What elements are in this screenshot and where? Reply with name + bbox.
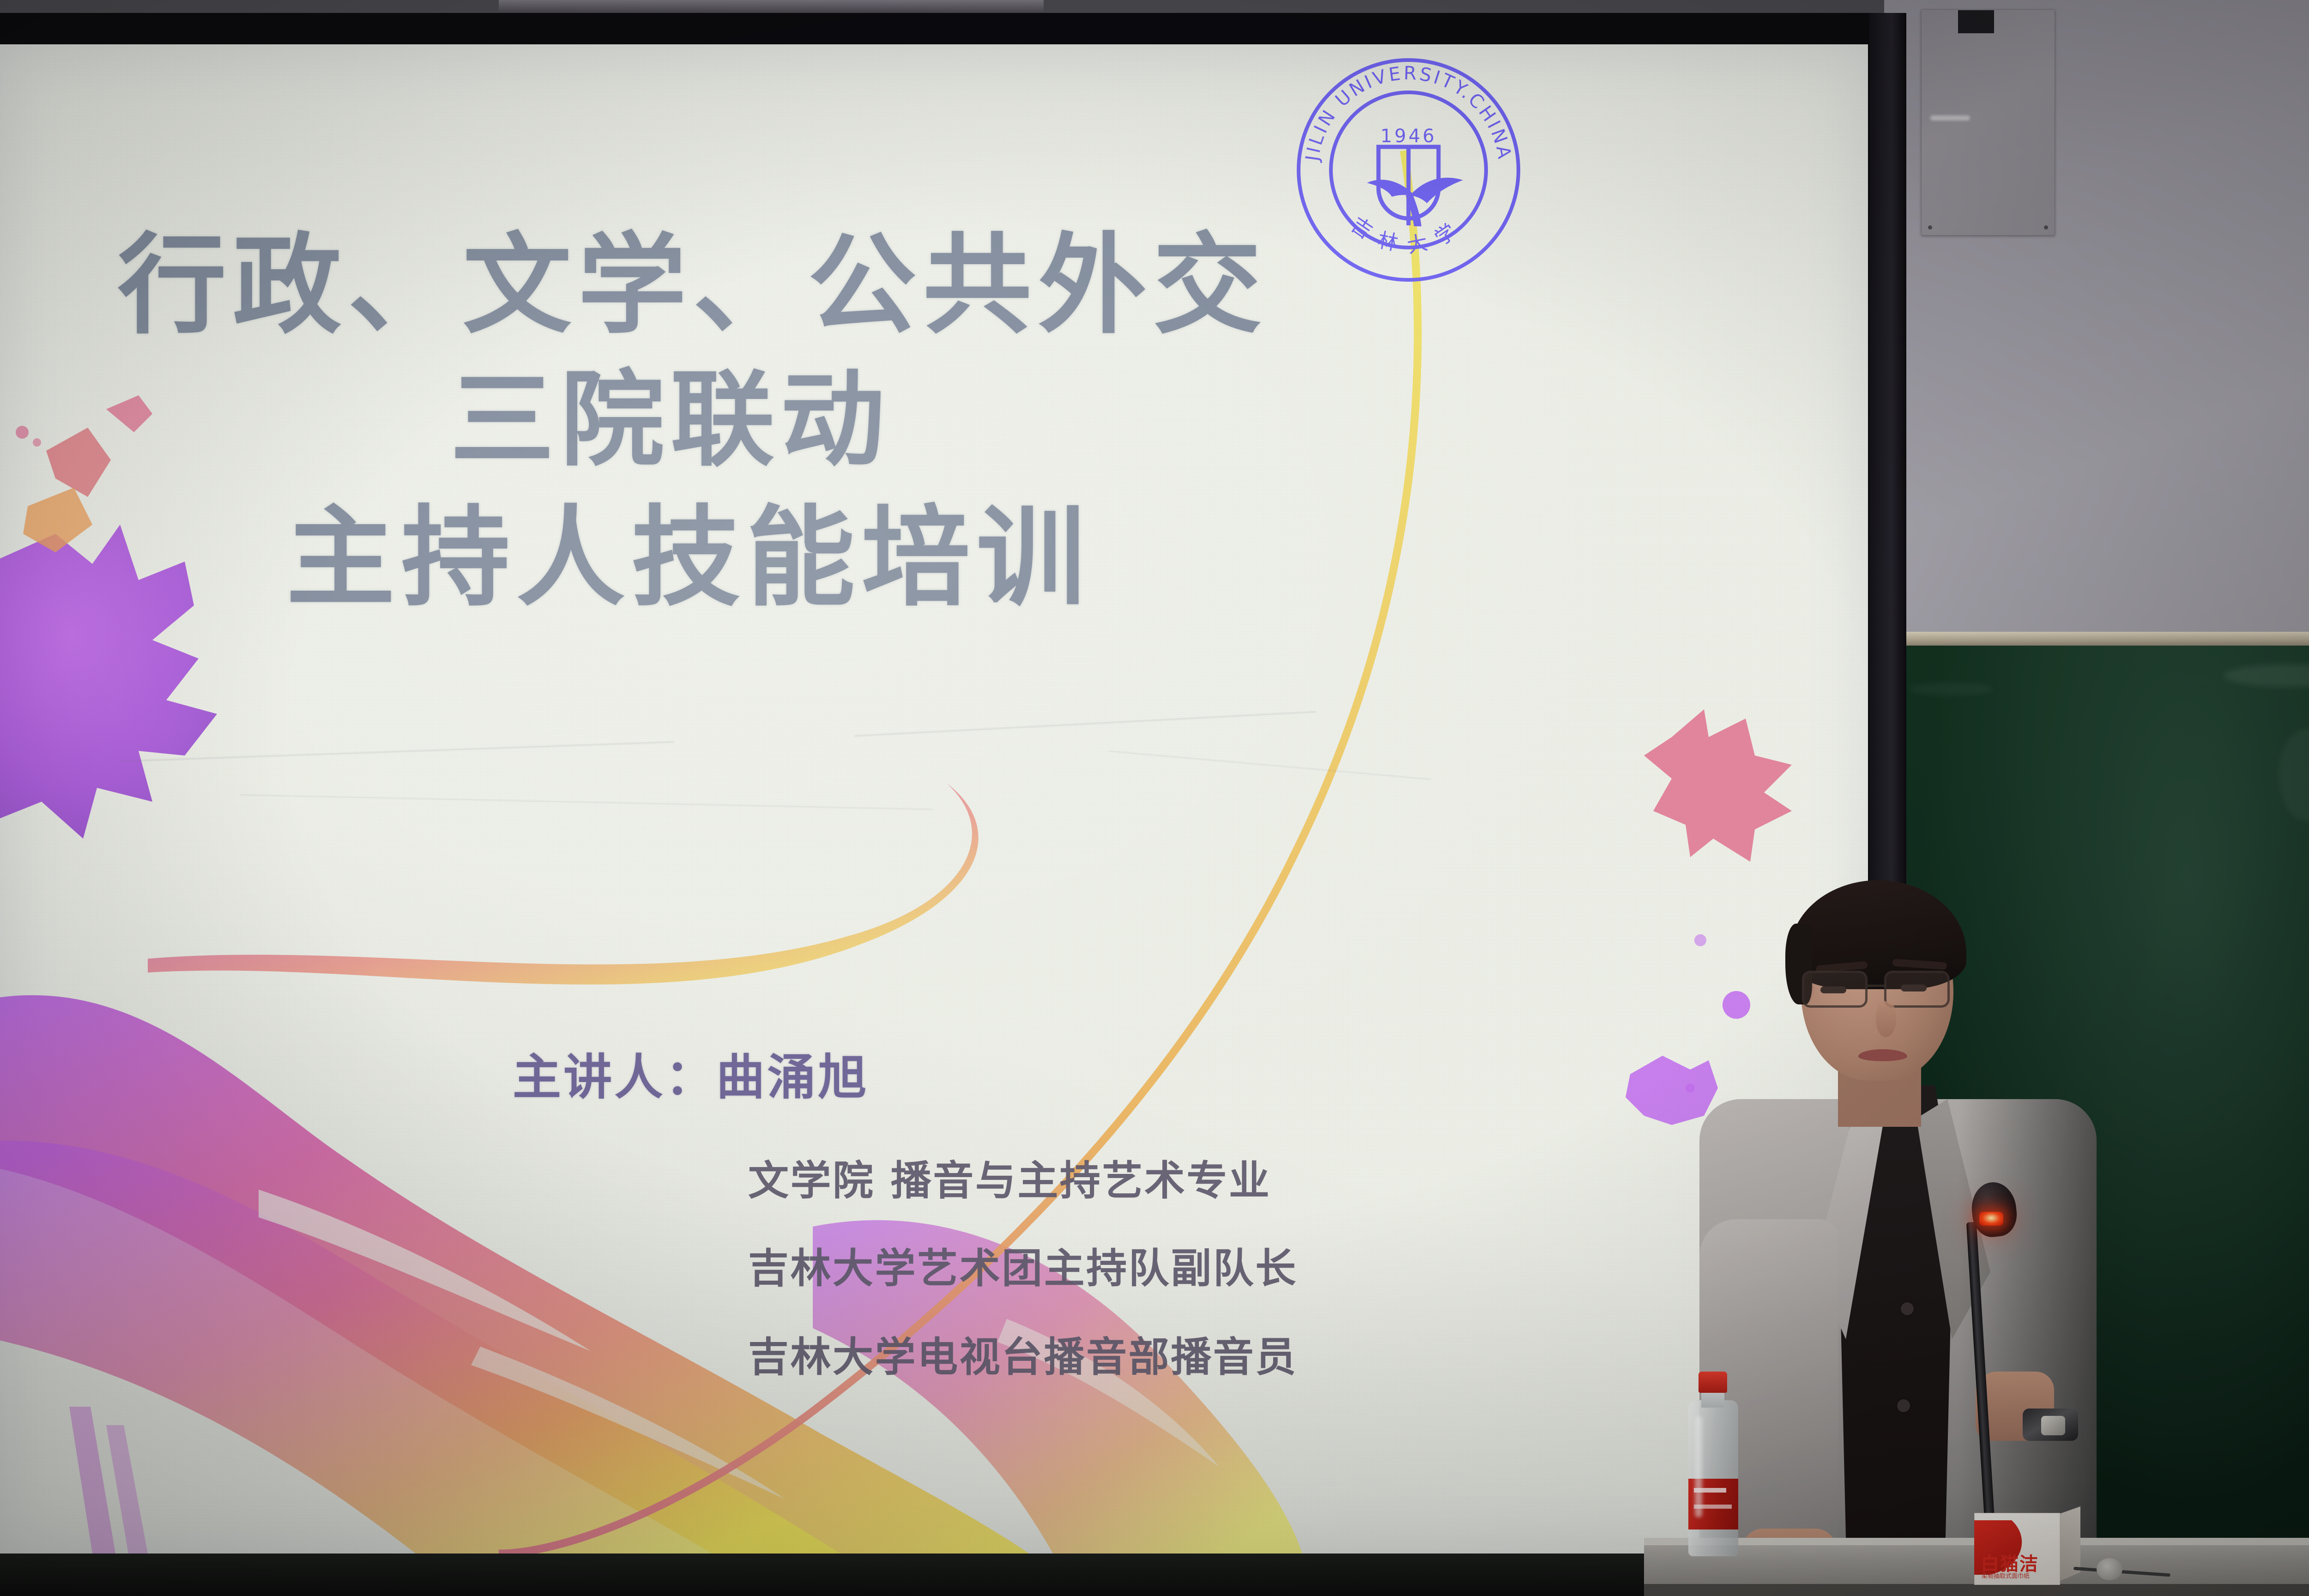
glasses-lens-left (1802, 971, 1868, 1008)
tissue-box-brand-sub: 柔韧抽取式面巾纸 (1982, 1571, 2030, 1580)
desk-clip (2097, 1558, 2122, 1580)
projected-slide: 1946 JILIN UNIVERSITY.CHINA 吉林大学 行政、文学、公… (0, 44, 1868, 1554)
speaker-nose (1876, 1001, 1896, 1037)
wall-plate-glare (1930, 115, 1970, 121)
speaker-jacket-button-2 (1897, 1399, 1910, 1412)
water-bottle-highlight (1695, 1416, 1702, 1517)
slide-presenter-label: 主讲人：曲涌旭 (513, 1038, 869, 1108)
water-bottle-cap (1699, 1372, 1727, 1393)
podium-desk-front (1644, 1584, 2309, 1596)
slide-title-line-3: 主持人技能培训 (286, 469, 1092, 627)
speaker-person (1699, 868, 2097, 1596)
slide-title-line-1: 行政、文学、公共外交 (118, 197, 1268, 354)
glasses-lens-right (1884, 971, 1950, 1008)
water-bottle (1686, 1372, 1741, 1556)
microphone-led-indicator (1979, 1212, 2003, 1226)
classroom-scene: 1946 JILIN UNIVERSITY.CHINA 吉林大学 行政、文学、公… (0, 0, 2309, 1596)
slide-title-line-2: 三院联动 (450, 335, 891, 486)
tissue-box: 白猫洁 柔韧抽取式面巾纸 (1974, 1506, 2080, 1585)
wall-mount-plate (1921, 9, 2055, 236)
glasses-bridge (1868, 985, 1886, 987)
wall-plate-notch (1958, 10, 1994, 33)
speaker-wristwatch-face (2041, 1416, 2065, 1435)
slide-credit-line-3: 吉林大学电视台播音部播音员 (748, 1324, 1298, 1383)
speaker-jacket-button-1 (1901, 1302, 1914, 1315)
slide-credit-line-2: 吉林大学艺术团主持队副队长 (748, 1236, 1298, 1294)
slide-text-block: 行政、文学、公共外交 三院联动 主持人技能培训 主讲人：曲涌旭 文学院 播音与主… (0, 44, 1868, 1554)
slide-credit-line-1: 文学院 播音与主持艺术专业 (748, 1148, 1271, 1207)
chalk-rail (1882, 632, 2309, 647)
speaker-mouth (1858, 1049, 1907, 1061)
screen-bottom-shadow (0, 1554, 1869, 1596)
